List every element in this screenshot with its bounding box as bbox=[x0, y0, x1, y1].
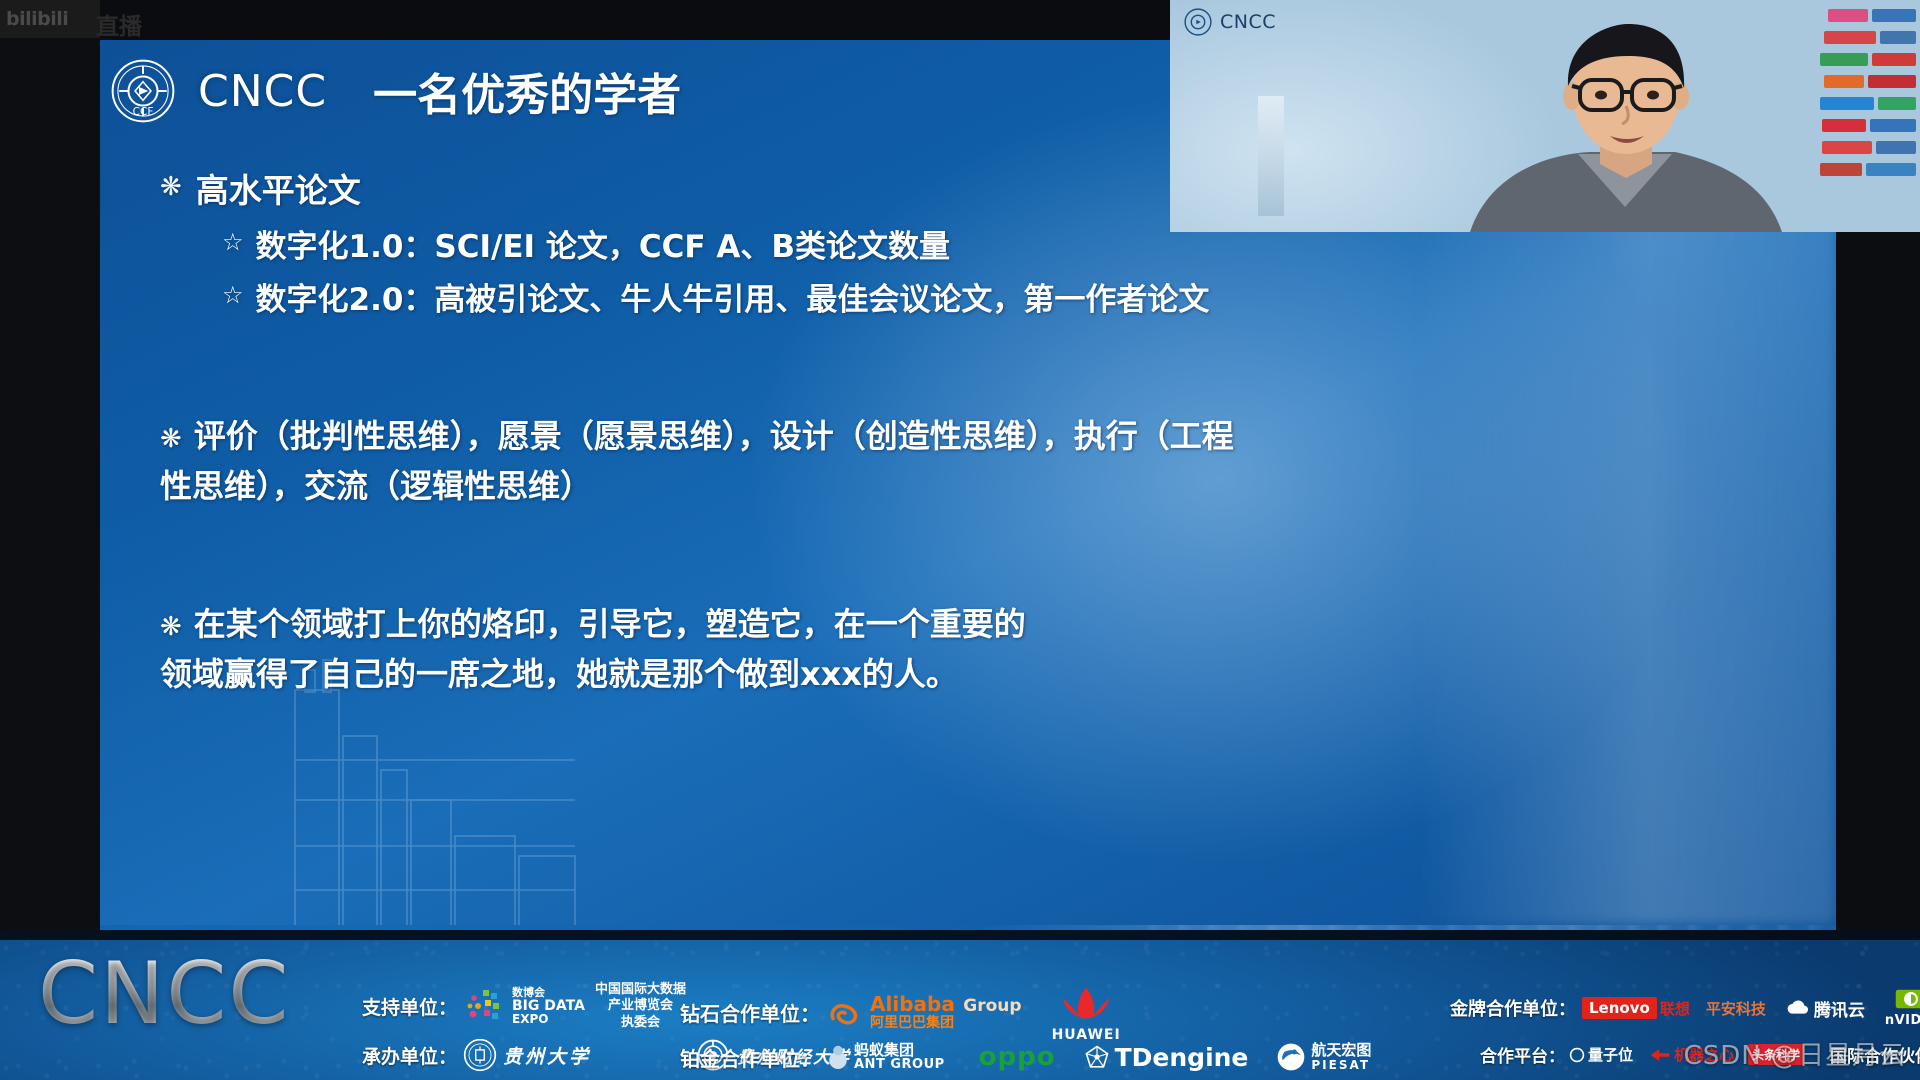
huawei-name: HUAWEI bbox=[1052, 1027, 1121, 1043]
bilibili-watermark: bilibili bbox=[0, 0, 100, 38]
tdengine-logo-icon bbox=[1084, 1044, 1110, 1070]
guizhou-univ-seal-icon bbox=[463, 1038, 497, 1072]
star-marker-icon: ☆ bbox=[222, 276, 244, 326]
bullet-marker-icon: ❋ bbox=[160, 168, 182, 207]
sponsor-group-diamond: 钻石合作单位： Alibaba Group 阿里巴巴集团 HUAWEI bbox=[680, 982, 1121, 1043]
ccf-logo-icon: CCF bbox=[110, 58, 176, 124]
bigdata-expo-en1: BIG DATA bbox=[512, 999, 585, 1014]
oppo-logo-text: oppo bbox=[979, 1042, 1056, 1072]
sponsor-group-support: 支持单位： 数博会 BIG DATA EXPO bbox=[362, 982, 686, 1031]
presenter-video bbox=[1460, 22, 1790, 232]
webcam-logo-text: CNCC bbox=[1220, 11, 1276, 33]
webcam-backdrop-tower bbox=[1258, 96, 1284, 216]
webcam-sponsor-strip bbox=[1766, 4, 1916, 204]
letterbox-left bbox=[0, 0, 100, 930]
alibaba-name-en: Alibaba bbox=[870, 992, 955, 1016]
bullet-level2-text-1: 数字化1.0：SCI/EI 论文，CCF A、B类论文数量 bbox=[256, 223, 950, 273]
label-support: 支持单位： bbox=[362, 993, 457, 1020]
sponsor-group-platinum: 铂金合作单位： 蚂蚁集团 ANT GROUP oppo TDengine bbox=[680, 1042, 1371, 1072]
alibaba-group-en: Group bbox=[963, 996, 1021, 1016]
lenovo-name-cn: 联想 bbox=[1660, 998, 1690, 1019]
label-host: 承办单位： bbox=[362, 1042, 457, 1069]
qbitai-icon bbox=[1569, 1047, 1585, 1063]
tencent-cloud-icon bbox=[1786, 999, 1810, 1017]
slide-header: CCF CNCC 一名优秀的学者 bbox=[110, 58, 681, 124]
banner-brand-cncc: CNCC bbox=[38, 944, 290, 1044]
bigdata-committee-l1: 中国国际大数据 bbox=[595, 982, 686, 998]
piesat-en: PIESAT bbox=[1311, 1059, 1371, 1072]
paragraph-2-line1: 在某个领域打上你的烙印，引导它，塑造它，在一个重要的 bbox=[194, 605, 1026, 643]
label-gold: 金牌合作单位： bbox=[1450, 995, 1576, 1021]
lenovo-logo-text: Lenovo bbox=[1582, 997, 1657, 1019]
paragraph-1-line1-row: ❋评价（批判性思维），愿景（愿景思维），设计（创造性思维），执行（工程 bbox=[160, 412, 1800, 462]
csdn-watermark: CSDN @日星月云 bbox=[1684, 1035, 1906, 1072]
paragraph-2-line1-row: ❋在某个领域打上你的烙印，引导它，塑造它，在一个重要的 bbox=[160, 600, 1800, 650]
bullet-level2-text-2: 数字化2.0：高被引论文、牛人牛引用、最佳会议论文，第一作者论文 bbox=[256, 276, 1210, 326]
tdengine-name: TDengine bbox=[1115, 1043, 1249, 1072]
ccf-logo-icon bbox=[1184, 8, 1212, 36]
label-platinum: 铂金合作单位： bbox=[680, 1043, 820, 1072]
bilibili-logo-text: bilibili bbox=[0, 8, 68, 30]
paragraph-1-line1: 评价（批判性思维），愿景（愿景思维），设计（创造性思维），执行（工程 bbox=[194, 417, 1234, 455]
nvidia-name: nVIDIA bbox=[1885, 1013, 1920, 1028]
piesat-cn: 航天宏图 bbox=[1311, 1043, 1371, 1059]
bigdata-committee-l2: 产业博览会 bbox=[595, 998, 686, 1014]
bigdata-committee-l3: 执委会 bbox=[595, 1015, 686, 1031]
bullet-marker-icon: ❋ bbox=[160, 612, 182, 642]
slide-logo-text: CNCC bbox=[198, 66, 327, 117]
ant-group-en: ANT GROUP bbox=[854, 1058, 945, 1072]
alibaba-logo-icon bbox=[826, 998, 868, 1028]
svg-text:CCF: CCF bbox=[133, 106, 154, 118]
alibaba-name-cn: 阿里巴巴集团 bbox=[870, 1016, 1022, 1031]
bullet-marker-icon: ❋ bbox=[160, 424, 182, 454]
webcam-logo: CNCC bbox=[1184, 8, 1276, 36]
paragraph-1-line2: 性思维），交流（逻辑性思维） bbox=[160, 462, 1800, 512]
pingan-tech-name: 平安科技 bbox=[1706, 998, 1766, 1019]
bullet-level2-2: ☆ 数字化2.0：高被引论文、牛人牛引用、最佳会议论文，第一作者论文 bbox=[222, 276, 1800, 326]
bigdata-expo-cn: 数博会 bbox=[512, 987, 585, 999]
slide-paragraph-1: ❋评价（批判性思维），愿景（愿景思维），设计（创造性思维），执行（工程 性思维）… bbox=[160, 412, 1800, 511]
bilibili-live-label: 直播 bbox=[96, 7, 142, 41]
slide-paragraph-2: ❋在某个领域打上你的烙印，引导它，塑造它，在一个重要的 领域赢得了自己的一席之地… bbox=[160, 600, 1800, 699]
qbitai-name: 量子位 bbox=[1588, 1044, 1633, 1065]
sponsor-group-gold: 金牌合作单位： Lenovo 联想 平安科技 腾讯云 nVIDIA bbox=[1450, 988, 1920, 1028]
tencent-cloud-name: 腾讯云 bbox=[1814, 996, 1865, 1021]
paragraph-2-line2: 领域赢得了自己的一席之地，她就是那个做到xxx的人。 bbox=[160, 650, 1800, 700]
piesat-logo-icon bbox=[1276, 1042, 1306, 1072]
stream-player: CCF CNCC 一名优秀的学者 ❋ 高水平论文 ☆ 数字化1.0：SCI/EI… bbox=[0, 0, 1920, 1080]
ant-group-cn: 蚂蚁集团 bbox=[854, 1042, 945, 1058]
slide-title: 一名优秀的学者 bbox=[373, 59, 681, 123]
huawei-logo-icon bbox=[1056, 982, 1116, 1026]
bigdata-expo-en2: EXPO bbox=[512, 1013, 585, 1026]
bigdata-expo-icon bbox=[461, 984, 507, 1028]
sponsor-banner: CNCC 支持单位： 数博会 BIG bbox=[0, 930, 1920, 1080]
jiqizhixin-icon bbox=[1649, 1046, 1671, 1064]
nvidia-eye-icon bbox=[1894, 988, 1920, 1010]
bullet-level1-text: 高水平论文 bbox=[196, 168, 361, 215]
banner-top-edge bbox=[0, 930, 1920, 940]
ant-group-logo-icon bbox=[826, 1044, 850, 1070]
star-marker-icon: ☆ bbox=[222, 223, 244, 273]
label-platform: 合作平台： bbox=[1480, 1042, 1565, 1067]
webcam-pip[interactable]: CNCC bbox=[1170, 0, 1920, 232]
label-diamond: 钻石合作单位： bbox=[680, 998, 820, 1027]
guizhou-univ-name: 贵州大学 bbox=[503, 1042, 591, 1069]
